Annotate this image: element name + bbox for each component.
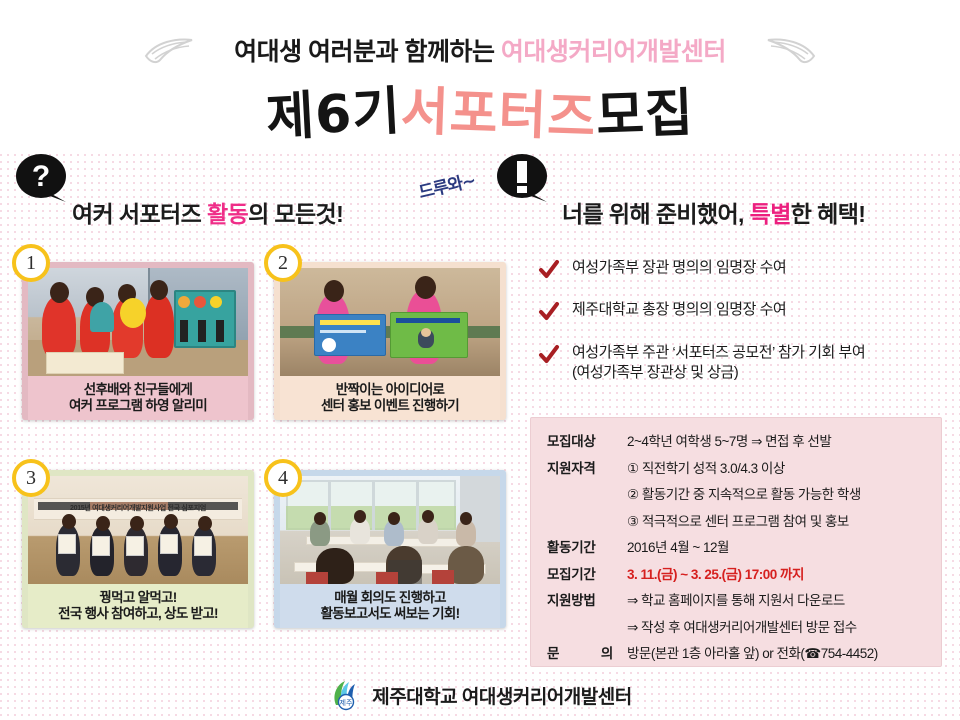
info-value: ③ 적극적으로 센터 프로그램 참여 및 홍보 [627, 510, 849, 530]
right-section-heading: 너를 위해 준비했어, 특별한 혜택! [562, 195, 865, 229]
activity-card-4: 매월 회의도 진행하고 활동보고서도 써보는 기회! [274, 470, 506, 628]
info-row: 모집기간 3. 11.(금) ~ 3. 25.(금) 17:00 까지 [547, 563, 931, 583]
activity-caption-3: 꿩먹고 알먹고! 전국 행사 참여하고, 상도 받고! [28, 584, 248, 628]
svg-text:제주: 제주 [340, 699, 353, 707]
benefit-item-1: 여성가족부 장관 명의의 임명장 수여 [538, 258, 786, 281]
info-label: 모집대상 [547, 430, 627, 450]
caption-1-line1: 선후배와 친구들에게 [84, 382, 193, 398]
info-value: ① 직전학기 성적 3.0/4.3 이상 [627, 457, 785, 477]
poster-canvas: 여대생 여러분과 함께하는 여대생커리어개발센터 제6기 서포터즈 모집 ? 여… [0, 0, 960, 720]
info-label-contact-b: 의 [601, 642, 613, 662]
info-label: 활동기간 [547, 536, 627, 556]
info-label: 모집기간 [547, 563, 627, 583]
exclamation-speech-bubble-icon [495, 152, 553, 204]
wing-icon-right [766, 34, 818, 68]
svg-text:?: ? [32, 160, 50, 193]
info-value-deadline: 3. 11.(금) ~ 3. 25.(금) 17:00 까지 [627, 563, 804, 583]
subtitle-highlight: 여대생커리어개발센터 [501, 38, 726, 66]
right-heading-highlight: 특별 [750, 201, 791, 227]
caption-2-line1: 반짝이는 아이디어로 [336, 382, 445, 398]
handwritten-note: 드루와~ [416, 166, 477, 203]
left-section-heading: 여커 서포터즈 활동의 모든것! [72, 195, 343, 229]
poster-subtitle: 여대생 여러분과 함께하는 여대생커리어개발센터 [234, 32, 726, 68]
benefit-item-3: 여성가족부 주관 ‘서포터즈 공모전’ 참가 기회 부여 (여성가족부 장관상 … [538, 343, 865, 384]
activity-photo-3: 2015년 여대생커리어개발지원사업 전국 심포지엄 [28, 476, 248, 584]
left-heading-pre: 여커 서포터즈 [72, 201, 207, 227]
benefit-text-1: 여성가족부 장관 명의의 임명장 수여 [572, 258, 786, 278]
info-label-contact-a: 문 [547, 642, 559, 662]
activity-photo-2 [280, 268, 500, 376]
benefit-text-2: 제주대학교 총장 명의의 임명장 수여 [572, 300, 786, 320]
caption-2-line2: 센터 홍보 이벤트 진행하기 [321, 398, 459, 414]
info-row: 지원방법 ⇒ 학교 홈페이지를 통해 지원서 다운로드 [547, 589, 931, 609]
poster-header: 여대생 여러분과 함께하는 여대생커리어개발센터 제6기 서포터즈 모집 [0, 6, 960, 146]
info-label: 지원자격 [547, 457, 627, 477]
caption-4-line2: 활동보고서도 써보는 기회! [321, 606, 460, 622]
info-row: ③ 적극적으로 센터 프로그램 참여 및 홍보 [547, 510, 931, 530]
activity-card-1: 선후배와 친구들에게 여커 프로그램 하영 알리미 [22, 262, 254, 420]
info-value: ⇒ 학교 홈페이지를 통해 지원서 다운로드 [627, 589, 845, 609]
activity-caption-4: 매월 회의도 진행하고 활동보고서도 써보는 기회! [280, 584, 500, 628]
info-value: ⇒ 작성 후 여대생커리어개발센터 방문 접수 [627, 616, 857, 636]
info-row: 모집대상 2~4학년 여학생 5~7명 ⇒ 면접 후 선발 [547, 430, 931, 450]
left-heading-highlight: 활동 [207, 201, 248, 227]
benefit-text-3-sub: (여성가족부 장관상 및 상금) [572, 363, 865, 383]
poster-title: 제6기 서포터즈 모집 [0, 72, 960, 147]
subtitle-plain: 여대생 여러분과 함께하는 [234, 38, 501, 66]
benefit-item-2: 제주대학교 총장 명의의 임명장 수여 [538, 300, 786, 323]
activity-card-3: 2015년 여대생커리어개발지원사업 전국 심포지엄 꿩먹고 알먹고! 전국 행… [22, 470, 254, 628]
title-part1: 제6기 [264, 69, 403, 151]
activity-photo-1 [28, 268, 248, 376]
info-value-contact: 방문(본관 1층 아라홀 앞) or 전화(☎754-4452) [627, 642, 878, 662]
poster-footer: 제주 제주대학교 여대생커리어개발센터 [0, 678, 960, 712]
left-heading-post: 의 모든것! [248, 201, 343, 227]
caption-3-line1: 꿩먹고 알먹고! [99, 590, 176, 606]
info-value: 2~4학년 여학생 5~7명 ⇒ 면접 후 선발 [627, 430, 831, 450]
card-badge-1: 1 [12, 244, 50, 282]
info-row: ⇒ 작성 후 여대생커리어개발센터 방문 접수 [547, 616, 931, 636]
right-heading-pre: 너를 위해 준비했어, [562, 201, 750, 227]
activity-caption-1: 선후배와 친구들에게 여커 프로그램 하영 알리미 [28, 376, 248, 420]
info-row-contact: 문 의 방문(본관 1층 아라홀 앞) or 전화(☎754-4452) [547, 642, 931, 662]
title-highlight: 서포터즈 [400, 69, 598, 151]
caption-4-line1: 매월 회의도 진행하고 [334, 590, 446, 606]
info-row: 지원자격 ① 직전학기 성적 3.0/4.3 이상 [547, 457, 931, 477]
photo-3-banner-text: 2015년 여대생커리어개발지원사업 전국 심포지엄 [38, 500, 238, 516]
question-speech-bubble-icon: ? [14, 152, 72, 204]
check-icon [538, 344, 560, 366]
activity-card-2: 반짝이는 아이디어로 센터 홍보 이벤트 진행하기 [274, 262, 506, 420]
check-icon [538, 259, 560, 281]
info-label: 지원방법 [547, 589, 627, 609]
info-label-contact: 문 의 [547, 642, 627, 662]
jeju-national-university-logo: 제주 [328, 678, 362, 712]
card-badge-4: 4 [264, 459, 302, 497]
card-badge-3: 3 [12, 459, 50, 497]
activity-caption-2: 반짝이는 아이디어로 센터 홍보 이벤트 진행하기 [280, 376, 500, 420]
activity-photo-4 [280, 476, 500, 584]
caption-3-line2: 전국 행사 참여하고, 상도 받고! [58, 606, 218, 622]
caption-1-line2: 여커 프로그램 하영 알리미 [69, 398, 207, 414]
footer-organization-name: 제주대학교 여대생커리어개발센터 [372, 682, 631, 709]
card-badge-2: 2 [264, 244, 302, 282]
info-value: 2016년 4월 ~ 12월 [627, 536, 729, 556]
info-row: 활동기간 2016년 4월 ~ 12월 [547, 536, 931, 556]
recruitment-info-box: 모집대상 2~4학년 여학생 5~7명 ⇒ 면접 후 선발 지원자격 ① 직전학… [530, 417, 942, 667]
title-part2: 모집 [595, 70, 695, 148]
benefit-text-3: 여성가족부 주관 ‘서포터즈 공모전’ 참가 기회 부여 [572, 343, 865, 363]
info-row: ② 활동기간 중 지속적으로 활동 가능한 학생 [547, 483, 931, 503]
info-value: ② 활동기간 중 지속적으로 활동 가능한 학생 [627, 483, 861, 503]
check-icon [538, 301, 560, 323]
wing-icon-left [142, 34, 194, 68]
right-heading-post: 한 혜택! [791, 201, 866, 227]
